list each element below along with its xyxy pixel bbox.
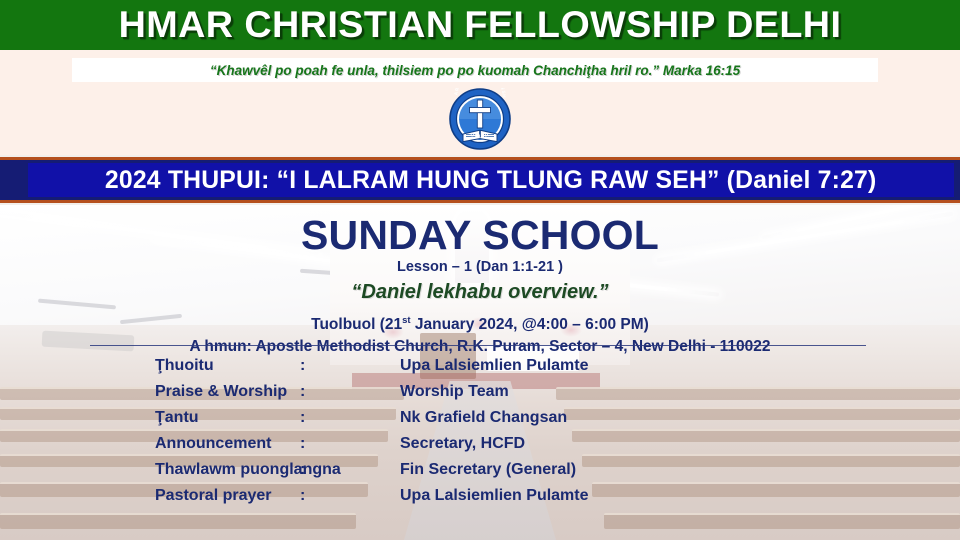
program-role: Ţantu <box>0 409 300 427</box>
program-separator: : <box>300 383 400 401</box>
page-title: SUNDAY SCHOOL <box>0 205 960 258</box>
sunday-school-poster: HMAR CHRISTIAN FELLOWSHIP DELHI “Khawvêl… <box>0 0 960 540</box>
meeting-datetime-suffix: January 2024, @4:00 – 6:00 PM) <box>411 316 649 333</box>
program-role: Praise & Worship <box>0 383 300 401</box>
program-separator: : <box>300 487 400 505</box>
table-row: Ţhuoitu : Upa Lalsiemlien Pulamte <box>0 357 960 383</box>
table-row: Praise & Worship : Worship Team <box>0 383 960 409</box>
annual-theme-banner: 2024 THUPUI: “I LALRAM HUNG TLUNG RAW SE… <box>0 157 960 203</box>
main-content: SUNDAY SCHOOL Lesson – 1 (Dan 1:1-21 ) “… <box>0 205 960 540</box>
meeting-venue: A hmun: Apostle Methodist Church, R.K. P… <box>0 335 960 357</box>
program-person: Fin Secretary (General) <box>400 461 960 479</box>
meeting-datetime-prefix: Tuolbuol (21 <box>311 316 402 333</box>
program-role: Pastoral prayer <box>0 487 300 505</box>
program-role: Thawlawm puonglangna <box>0 461 300 479</box>
scripture-verse: “Khawvêl po poah fe unla, thilsiem po po… <box>210 63 740 78</box>
annual-theme-text: 2024 THUPUI: “I LALRAM HUNG TLUNG RAW SE… <box>105 166 877 195</box>
lesson-subtitle: “Daniel lekhabu overview.” <box>0 277 960 305</box>
scripture-box: “Khawvêl po poah fe unla, thilsiem po po… <box>72 58 878 82</box>
table-row: Announcement : Secretary, HCFD <box>0 435 960 461</box>
program-list: Ţhuoitu : Upa Lalsiemlien Pulamte Praise… <box>0 357 960 513</box>
program-role: Announcement <box>0 435 300 453</box>
table-row: Thawlawm puonglangna : Fin Secretary (Ge… <box>0 461 960 487</box>
date-ordinal-suffix: st <box>402 315 410 326</box>
program-person: Nk Grafield Changsan <box>400 409 960 427</box>
program-person: Secretary, HCFD <box>400 435 960 453</box>
table-row: Pastoral prayer : Upa Lalsiemlien Pulamt… <box>0 487 960 513</box>
program-person: Upa Lalsiemlien Pulamte <box>400 487 960 505</box>
program-separator: : <box>300 461 400 479</box>
program-separator: : <box>300 409 400 427</box>
organization-banner: HMAR CHRISTIAN FELLOWSHIP DELHI <box>0 0 960 50</box>
meeting-datetime: Tuolbuol (21st January 2024, @4:00 – 6:0… <box>0 305 960 335</box>
annual-theme-inner: 2024 THUPUI: “I LALRAM HUNG TLUNG RAW SE… <box>28 163 954 197</box>
fellowship-logo: HMAR CHRISTIAN FELLOWSHIP DELHI <box>449 88 511 150</box>
program-separator: : <box>300 435 400 453</box>
program-separator: : <box>300 357 400 375</box>
table-row: Ţantu : Nk Grafield Changsan <box>0 409 960 435</box>
lesson-number: Lesson – 1 (Dan 1:1-21 ) <box>0 258 960 277</box>
program-role: Ţhuoitu <box>0 357 300 375</box>
organization-title: HMAR CHRISTIAN FELLOWSHIP DELHI <box>0 0 960 50</box>
program-person: Upa Lalsiemlien Pulamte <box>400 357 960 375</box>
program-person: Worship Team <box>400 383 960 401</box>
section-divider <box>90 345 866 346</box>
fellowship-logo-icon: HMAR CHRISTIAN FELLOWSHIP DELHI <box>449 88 511 150</box>
